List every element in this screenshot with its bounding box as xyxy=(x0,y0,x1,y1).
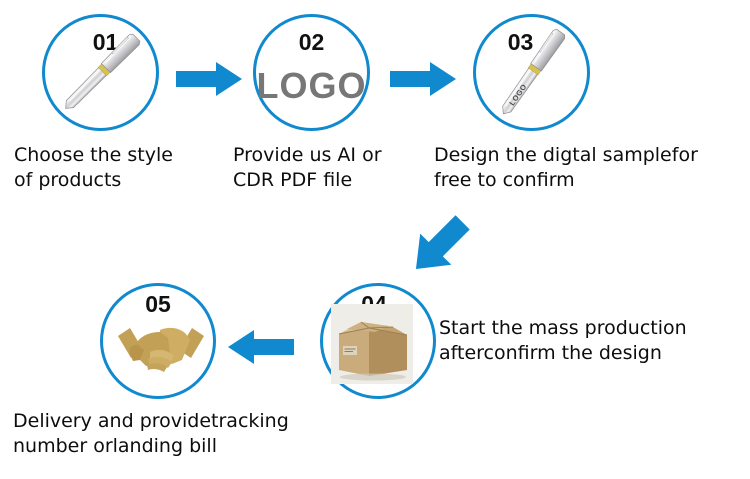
arrow-step4-to-step5-icon xyxy=(228,326,294,368)
logo-placeholder-text: LOGO xyxy=(256,65,367,107)
process-flow-diagram: 01 xyxy=(0,0,750,479)
handshake-icon xyxy=(116,314,206,380)
step-circle-01: 01 xyxy=(42,14,159,131)
step-number-02: 02 xyxy=(256,29,367,56)
arrow-step2-to-step3-icon xyxy=(390,58,456,100)
svg-text:LOGO: LOGO xyxy=(507,82,528,107)
step-caption-03: Design the digtal samplefor free to conf… xyxy=(434,143,744,193)
step-caption-04: Start the mass production afterconfirm t… xyxy=(439,316,739,366)
step-caption-02: Provide us AI or CDR PDF file xyxy=(233,143,443,193)
arrow-step1-to-step2-icon xyxy=(176,58,242,100)
step-circle-04: 04 xyxy=(320,283,436,399)
step-caption-05: Delivery and providetracking number orla… xyxy=(13,409,353,459)
step-circle-03: 03 xyxy=(473,14,590,131)
cardboard-box-icon xyxy=(331,304,413,384)
step-circle-05: 05 xyxy=(100,283,216,399)
step-number-03: 03 xyxy=(454,29,587,56)
step-caption-01: Choose the style of products xyxy=(14,143,239,193)
arrow-step3-to-step4-icon xyxy=(400,205,480,285)
step-circle-02: 02 LOGO xyxy=(253,14,370,131)
